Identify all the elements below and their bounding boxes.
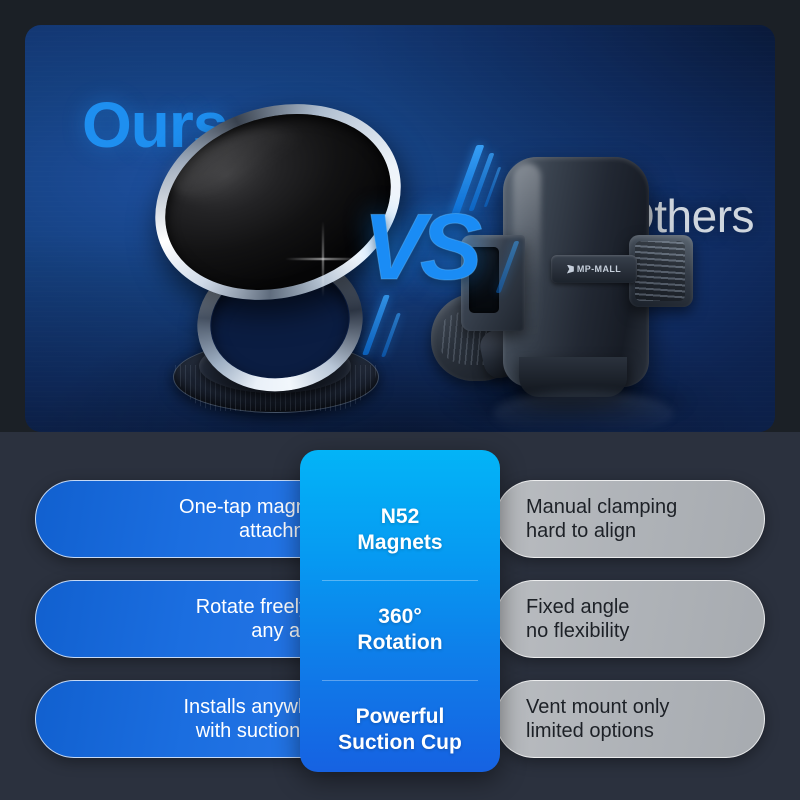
feature-line1: Powerful (356, 704, 445, 730)
lightning-streak-icon (381, 313, 401, 357)
versus-badge: VS (355, 145, 525, 355)
comparison-infographic: Ours Others (0, 0, 800, 800)
others-drawback-line1: Vent mount only (526, 696, 669, 718)
disc-sparkle (285, 221, 361, 297)
feature-line2: Suction Cup (338, 730, 462, 756)
others-drawback-text: Vent mount only limited options (526, 695, 669, 744)
brand-mark-icon (567, 265, 574, 274)
others-drawback-pill: Manual clamping hard to align (495, 480, 765, 558)
feature-highlight-column: N52 Magnets 360° Rotation Powerful Sucti… (300, 450, 500, 772)
feature-line2: Rotation (357, 630, 442, 656)
others-drawback-line2: no flexibility (526, 620, 629, 642)
others-drawback-pill: Vent mount only limited options (495, 680, 765, 758)
feature-line2: Magnets (357, 530, 442, 556)
others-drawback-pill: Fixed angle no flexibility (495, 580, 765, 658)
lightning-streak-icon (496, 241, 520, 293)
others-drawback-text: Fixed angle no flexibility (526, 595, 629, 644)
vent-right-clamp-ridges (635, 241, 685, 301)
competitor-brand-badge: MP-MALL (551, 255, 637, 283)
others-drawback-line1: Fixed angle (526, 596, 629, 618)
feature-cell: 360° Rotation (300, 580, 500, 680)
vent-reflection (493, 391, 673, 432)
hero-product-image: Ours Others (25, 25, 775, 432)
others-drawback-line1: Manual clamping (526, 496, 677, 518)
competitor-brand-text: MP-MALL (577, 264, 621, 274)
others-drawback-text: Manual clamping hard to align (526, 495, 677, 544)
feature-line1: 360° (378, 604, 421, 630)
feature-line1: N52 (381, 504, 420, 530)
feature-cell: N52 Magnets (300, 480, 500, 580)
vs-text: VS (363, 193, 476, 301)
feature-cell: Powerful Suction Cup (300, 680, 500, 772)
others-drawback-line2: hard to align (526, 520, 636, 542)
others-drawback-line2: limited options (526, 720, 654, 742)
